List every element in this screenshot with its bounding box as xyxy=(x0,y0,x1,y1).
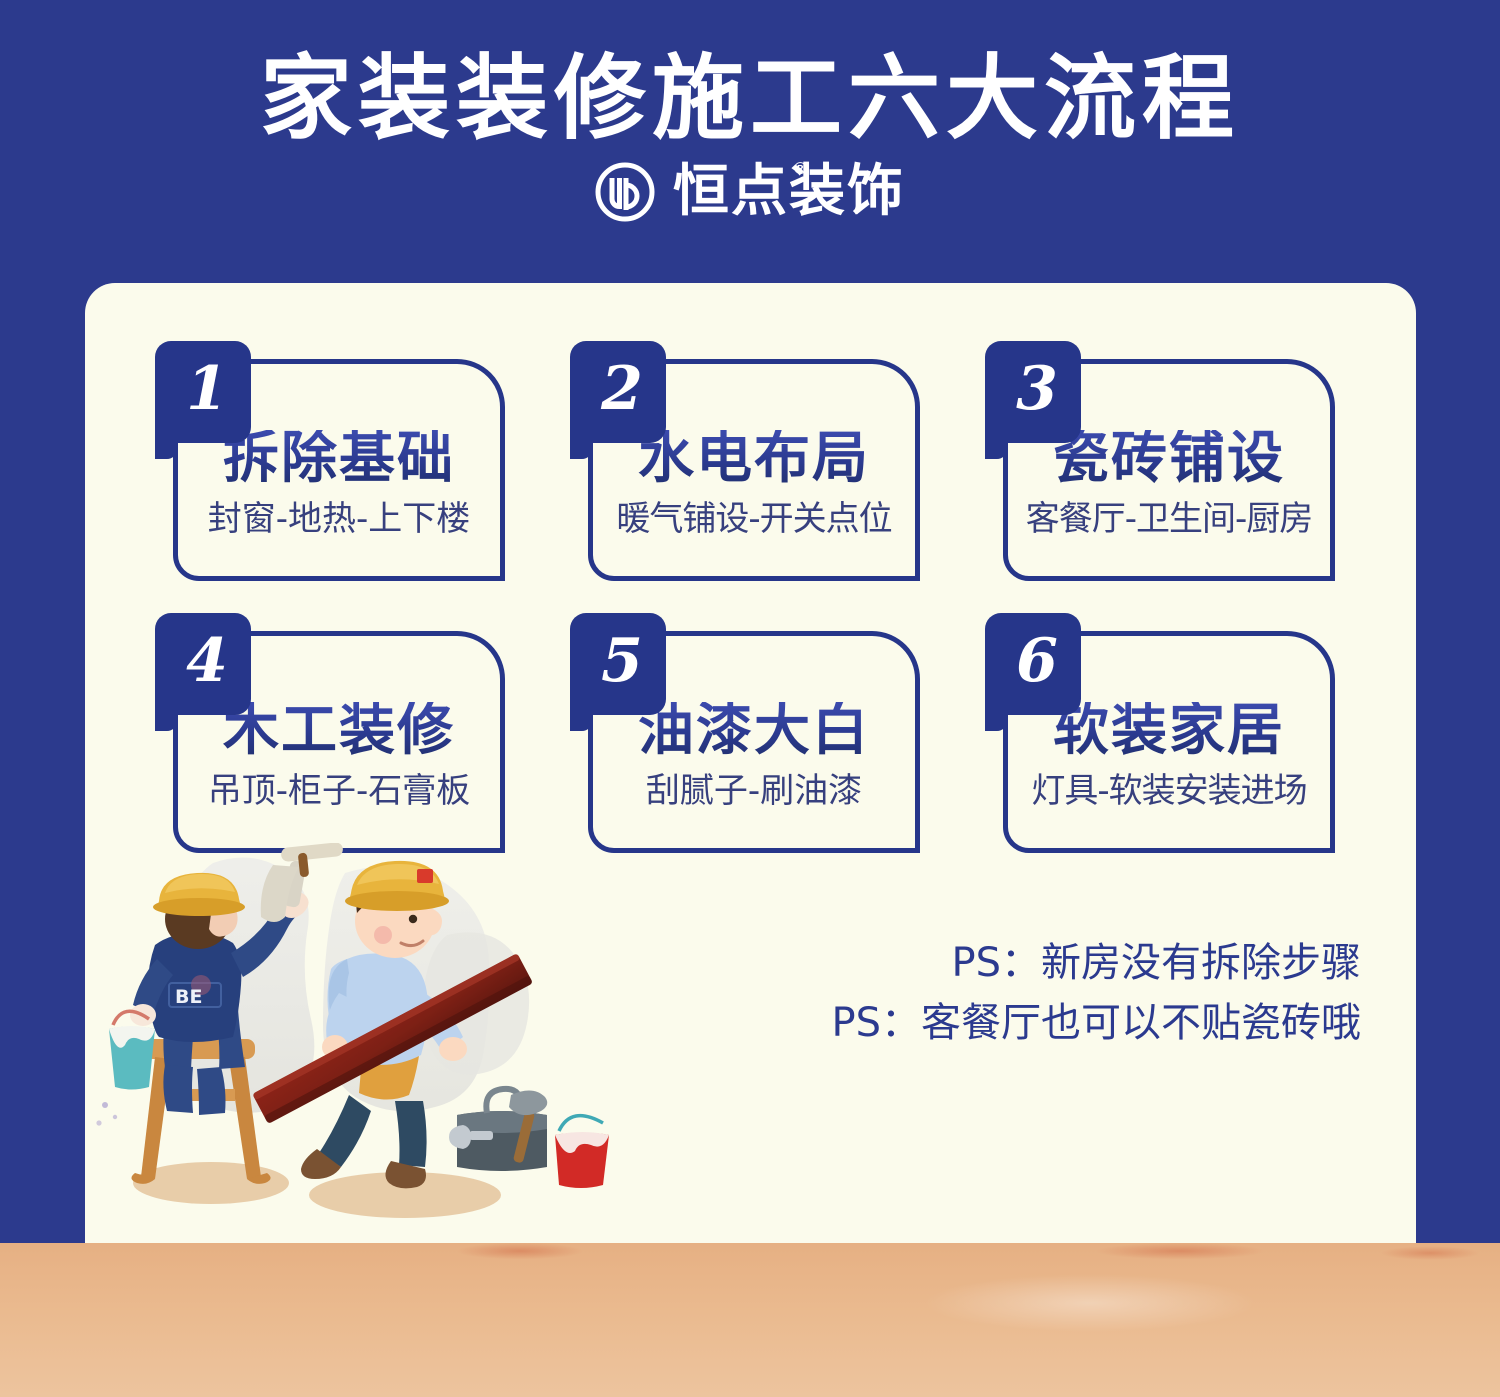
ps-note-2: PS：客餐厅也可以不贴瓷砖哦 xyxy=(831,993,1361,1053)
registered-trademark-icon: ® xyxy=(794,160,807,177)
step-number-badge: 4 xyxy=(155,613,251,715)
step-subtitle: 灯具-软装安装进场 xyxy=(1031,773,1306,810)
brand-name-wrap: 恒点装饰 ® xyxy=(673,164,905,220)
brand-lockup: 恒点装饰 ® xyxy=(595,162,905,222)
two-workers-painting-and-carrying-plank-illustration: BE xyxy=(95,843,615,1243)
step-number: 2 xyxy=(601,359,643,419)
step-title: 拆除基础 xyxy=(223,430,455,489)
svg-text:BE: BE xyxy=(175,986,202,1008)
step-number: 1 xyxy=(186,359,228,419)
step-subtitle: 刮腻子-刷油漆 xyxy=(646,773,862,810)
content-panel: 1 拆除基础 封窗-地热-上下楼 2 水电布局 暖气铺设-开关点位 xyxy=(85,283,1416,1243)
step-number-badge: 5 xyxy=(570,613,666,715)
step-title: 木工装修 xyxy=(223,702,455,761)
ps-notes: PS：新房没有拆除步骤 PS：客餐厅也可以不贴瓷砖哦 xyxy=(831,933,1361,1053)
step-card-3[interactable]: 3 瓷砖铺设 客餐厅-卫生间-厨房 xyxy=(985,341,1340,586)
step-card-5[interactable]: 5 油漆大白 刮腻子-刷油漆 xyxy=(570,613,925,858)
step-number: 3 xyxy=(1016,359,1058,419)
brand-name: 恒点装饰 xyxy=(673,164,905,220)
step-subtitle: 封窗-地热-上下楼 xyxy=(208,501,471,538)
steps-grid: 1 拆除基础 封窗-地热-上下楼 2 水电布局 暖气铺设-开关点位 xyxy=(155,341,1380,858)
poster-header: 家装装修施工六大流程 恒点装饰 ® xyxy=(0,0,1500,272)
step-number: 4 xyxy=(186,631,228,691)
step-title: 油漆大白 xyxy=(638,702,870,761)
sand-floor-strip xyxy=(0,1243,1500,1397)
step-card-4[interactable]: 4 木工装修 吊顶-柜子-石膏板 xyxy=(155,613,510,858)
poster-root: 家装装修施工六大流程 恒点装饰 ® 1 xyxy=(0,0,1500,1397)
step-number: 5 xyxy=(601,631,643,691)
step-title: 水电布局 xyxy=(638,430,870,489)
step-number-badge: 1 xyxy=(155,341,251,443)
step-number-badge: 3 xyxy=(985,341,1081,443)
step-number-badge: 2 xyxy=(570,341,666,443)
step-number-badge: 6 xyxy=(985,613,1081,715)
step-subtitle: 暖气铺设-开关点位 xyxy=(616,501,891,538)
page-title: 家装装修施工六大流程 xyxy=(260,52,1240,146)
step-number: 6 xyxy=(1016,631,1058,691)
step-card-2[interactable]: 2 水电布局 暖气铺设-开关点位 xyxy=(570,341,925,586)
step-subtitle: 吊顶-柜子-石膏板 xyxy=(208,773,471,810)
step-subtitle: 客餐厅-卫生间-厨房 xyxy=(1026,501,1313,538)
step-title: 瓷砖铺设 xyxy=(1053,430,1285,489)
ps-note-1: PS：新房没有拆除步骤 xyxy=(831,933,1361,993)
step-title: 软装家居 xyxy=(1053,702,1285,761)
step-card-1[interactable]: 1 拆除基础 封窗-地热-上下楼 xyxy=(155,341,510,586)
step-card-6[interactable]: 6 软装家居 灯具-软装安装进场 xyxy=(985,613,1340,858)
hengdian-circle-logo-icon xyxy=(595,162,655,222)
